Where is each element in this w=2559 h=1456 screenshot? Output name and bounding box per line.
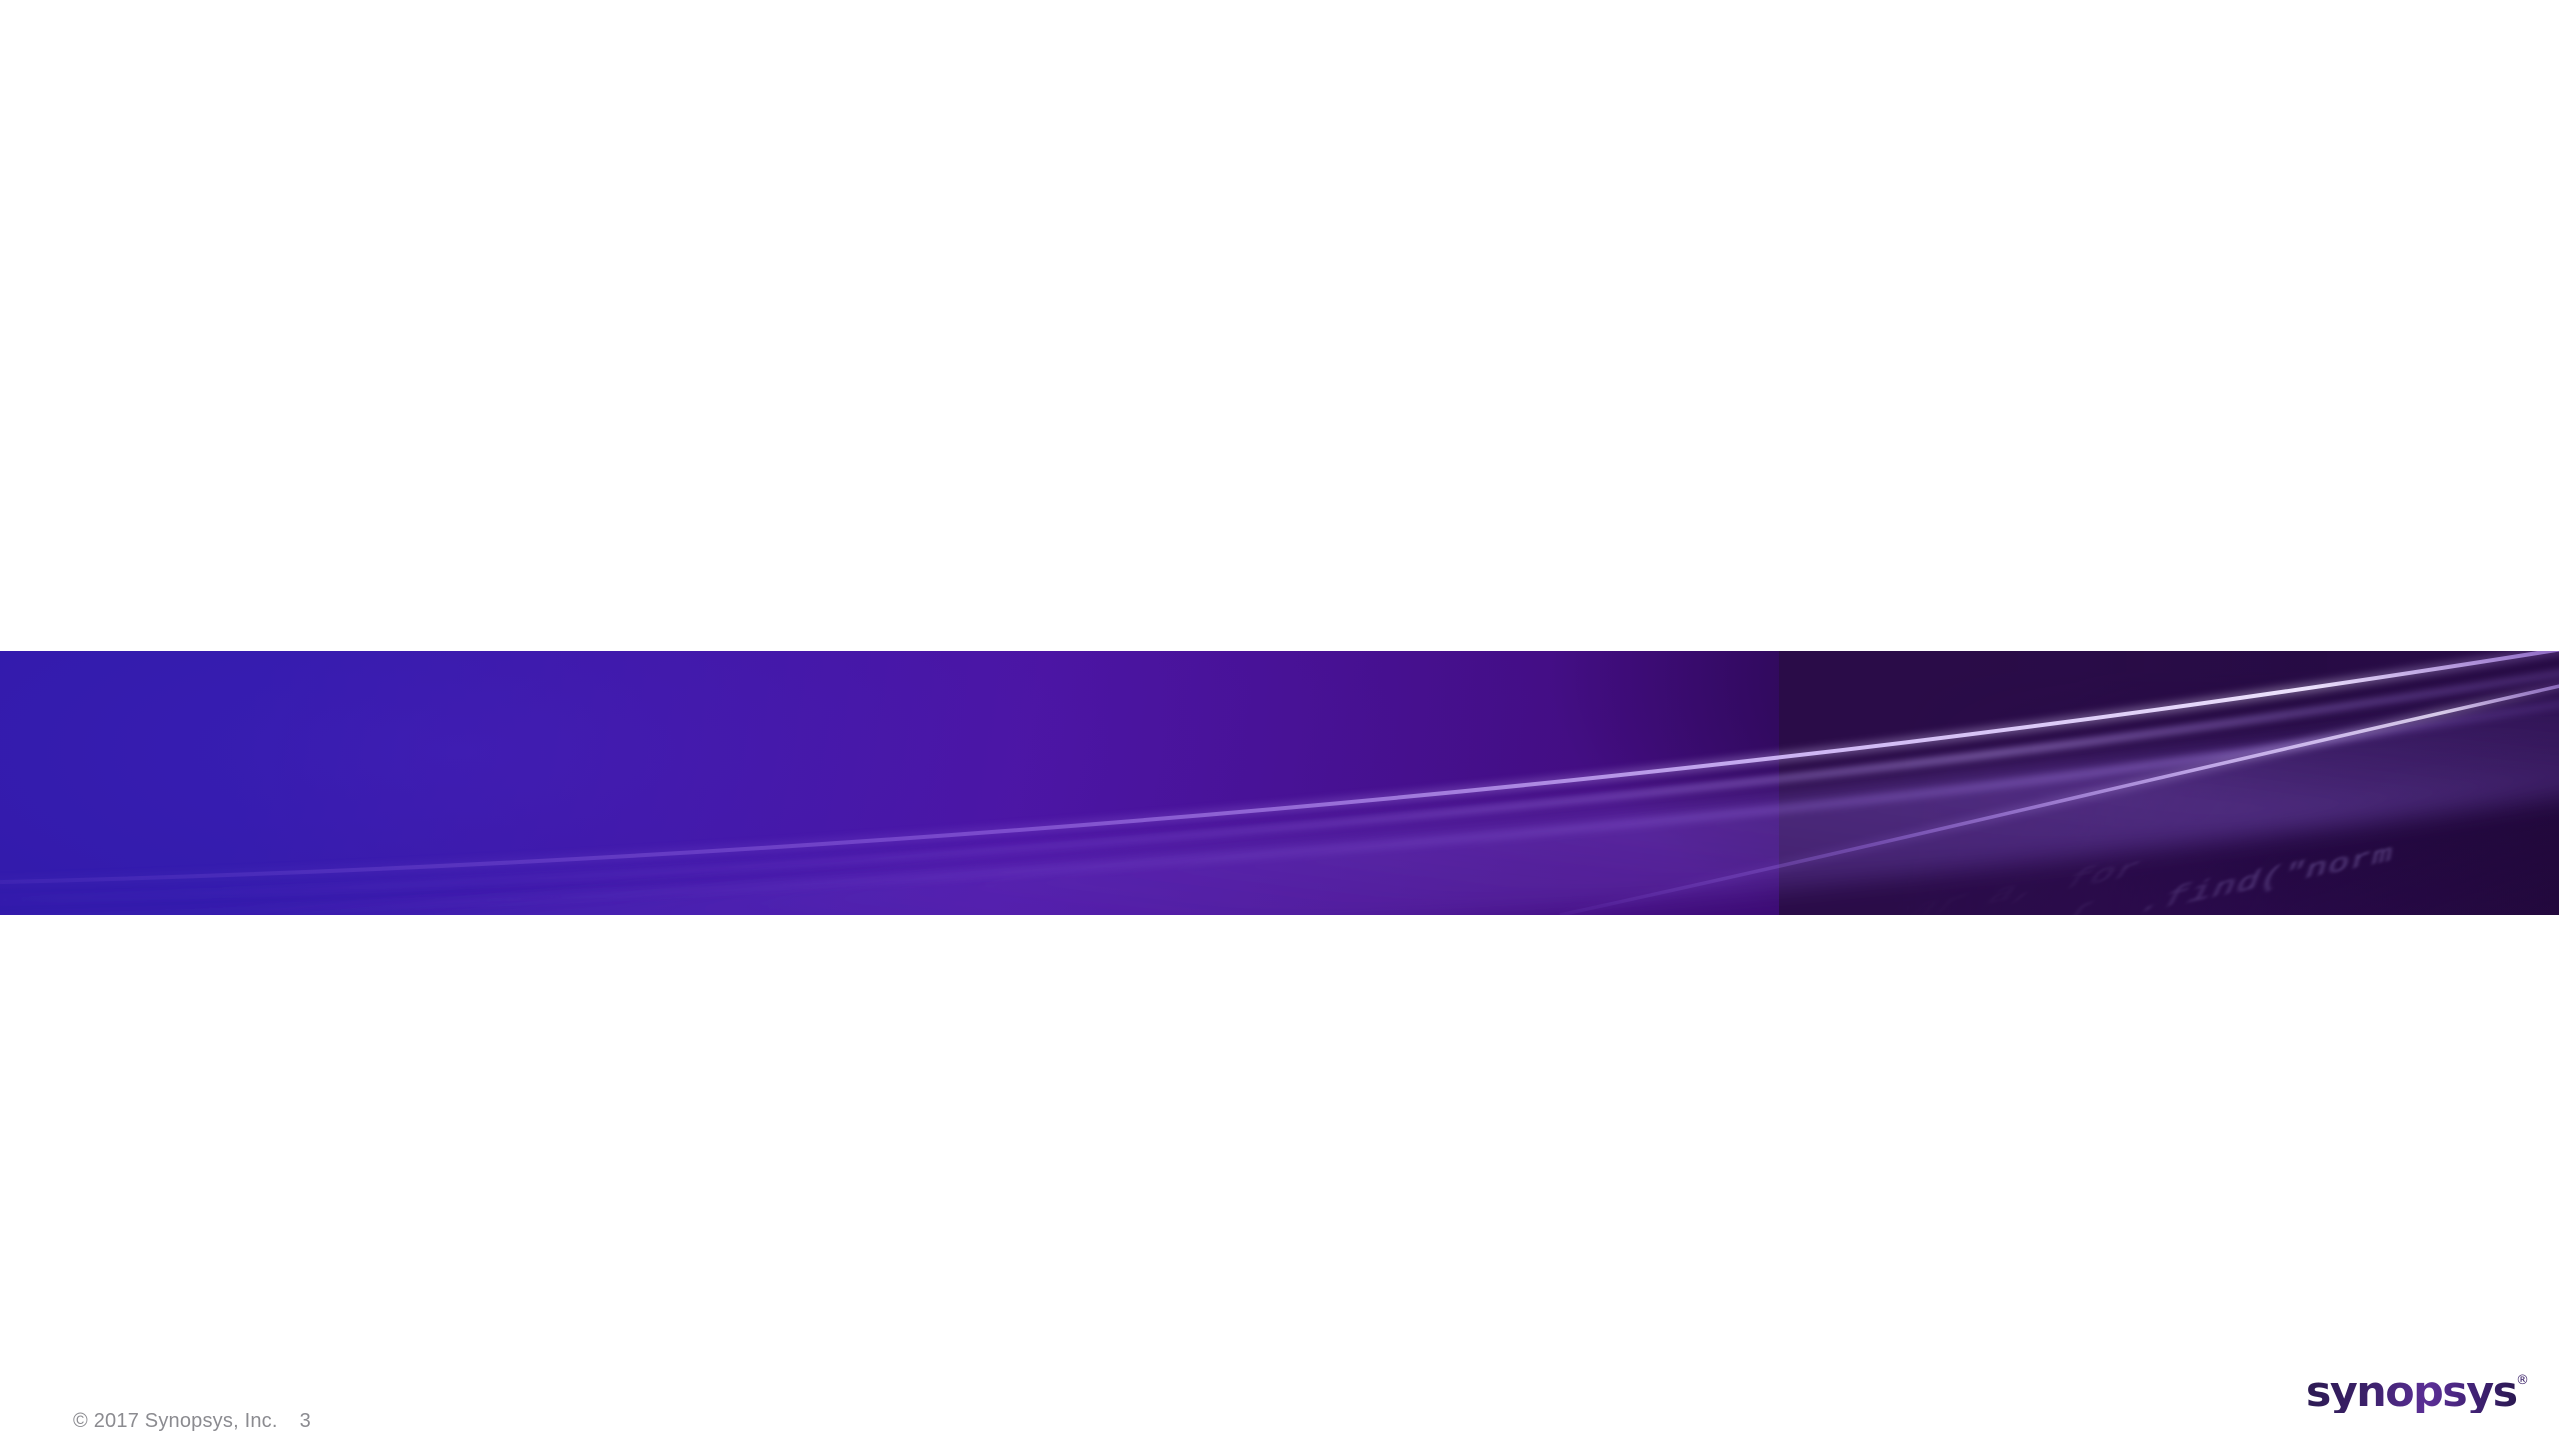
banner-circuit-artwork: (char a, for user(a) { .find("norm ) .fi… [1779,651,2559,915]
code-overlay-text: (char a, for user(a) { .find("norm ) .fi… [1779,763,2559,915]
swoosh-ribbon-2 [0,667,2559,901]
swoosh-ribbon-4 [1560,677,2559,915]
swoosh-ribbon-1 [0,651,2559,883]
footer: © 2017 Synopsys, Inc.3 [50,1387,311,1456]
slide-canvas: (char a, for user(a) { .find("norm ) .fi… [0,0,2559,1439]
registered-trademark-icon: ® [2516,1374,2529,1387]
title-banner: (char a, for user(a) { .find("norm ) .fi… [0,651,2559,915]
swoosh-decoration [0,651,2559,915]
copyright-text: © 2017 Synopsys, Inc. [73,1410,278,1432]
swoosh-band [0,691,2559,915]
swoosh-ribbon-4-glow [1560,677,2559,915]
artwork-fade-mask [1779,651,2559,915]
synopsys-logo: synopsys ® [2308,1371,2529,1413]
swoosh-ribbon-3 [0,697,2559,915]
page-number: 3 [278,1410,311,1432]
swoosh-ribbon-1-glow [0,651,2559,883]
synopsys-wordmark: synopsys [2306,1371,2517,1413]
banner-vignette [0,651,2559,915]
